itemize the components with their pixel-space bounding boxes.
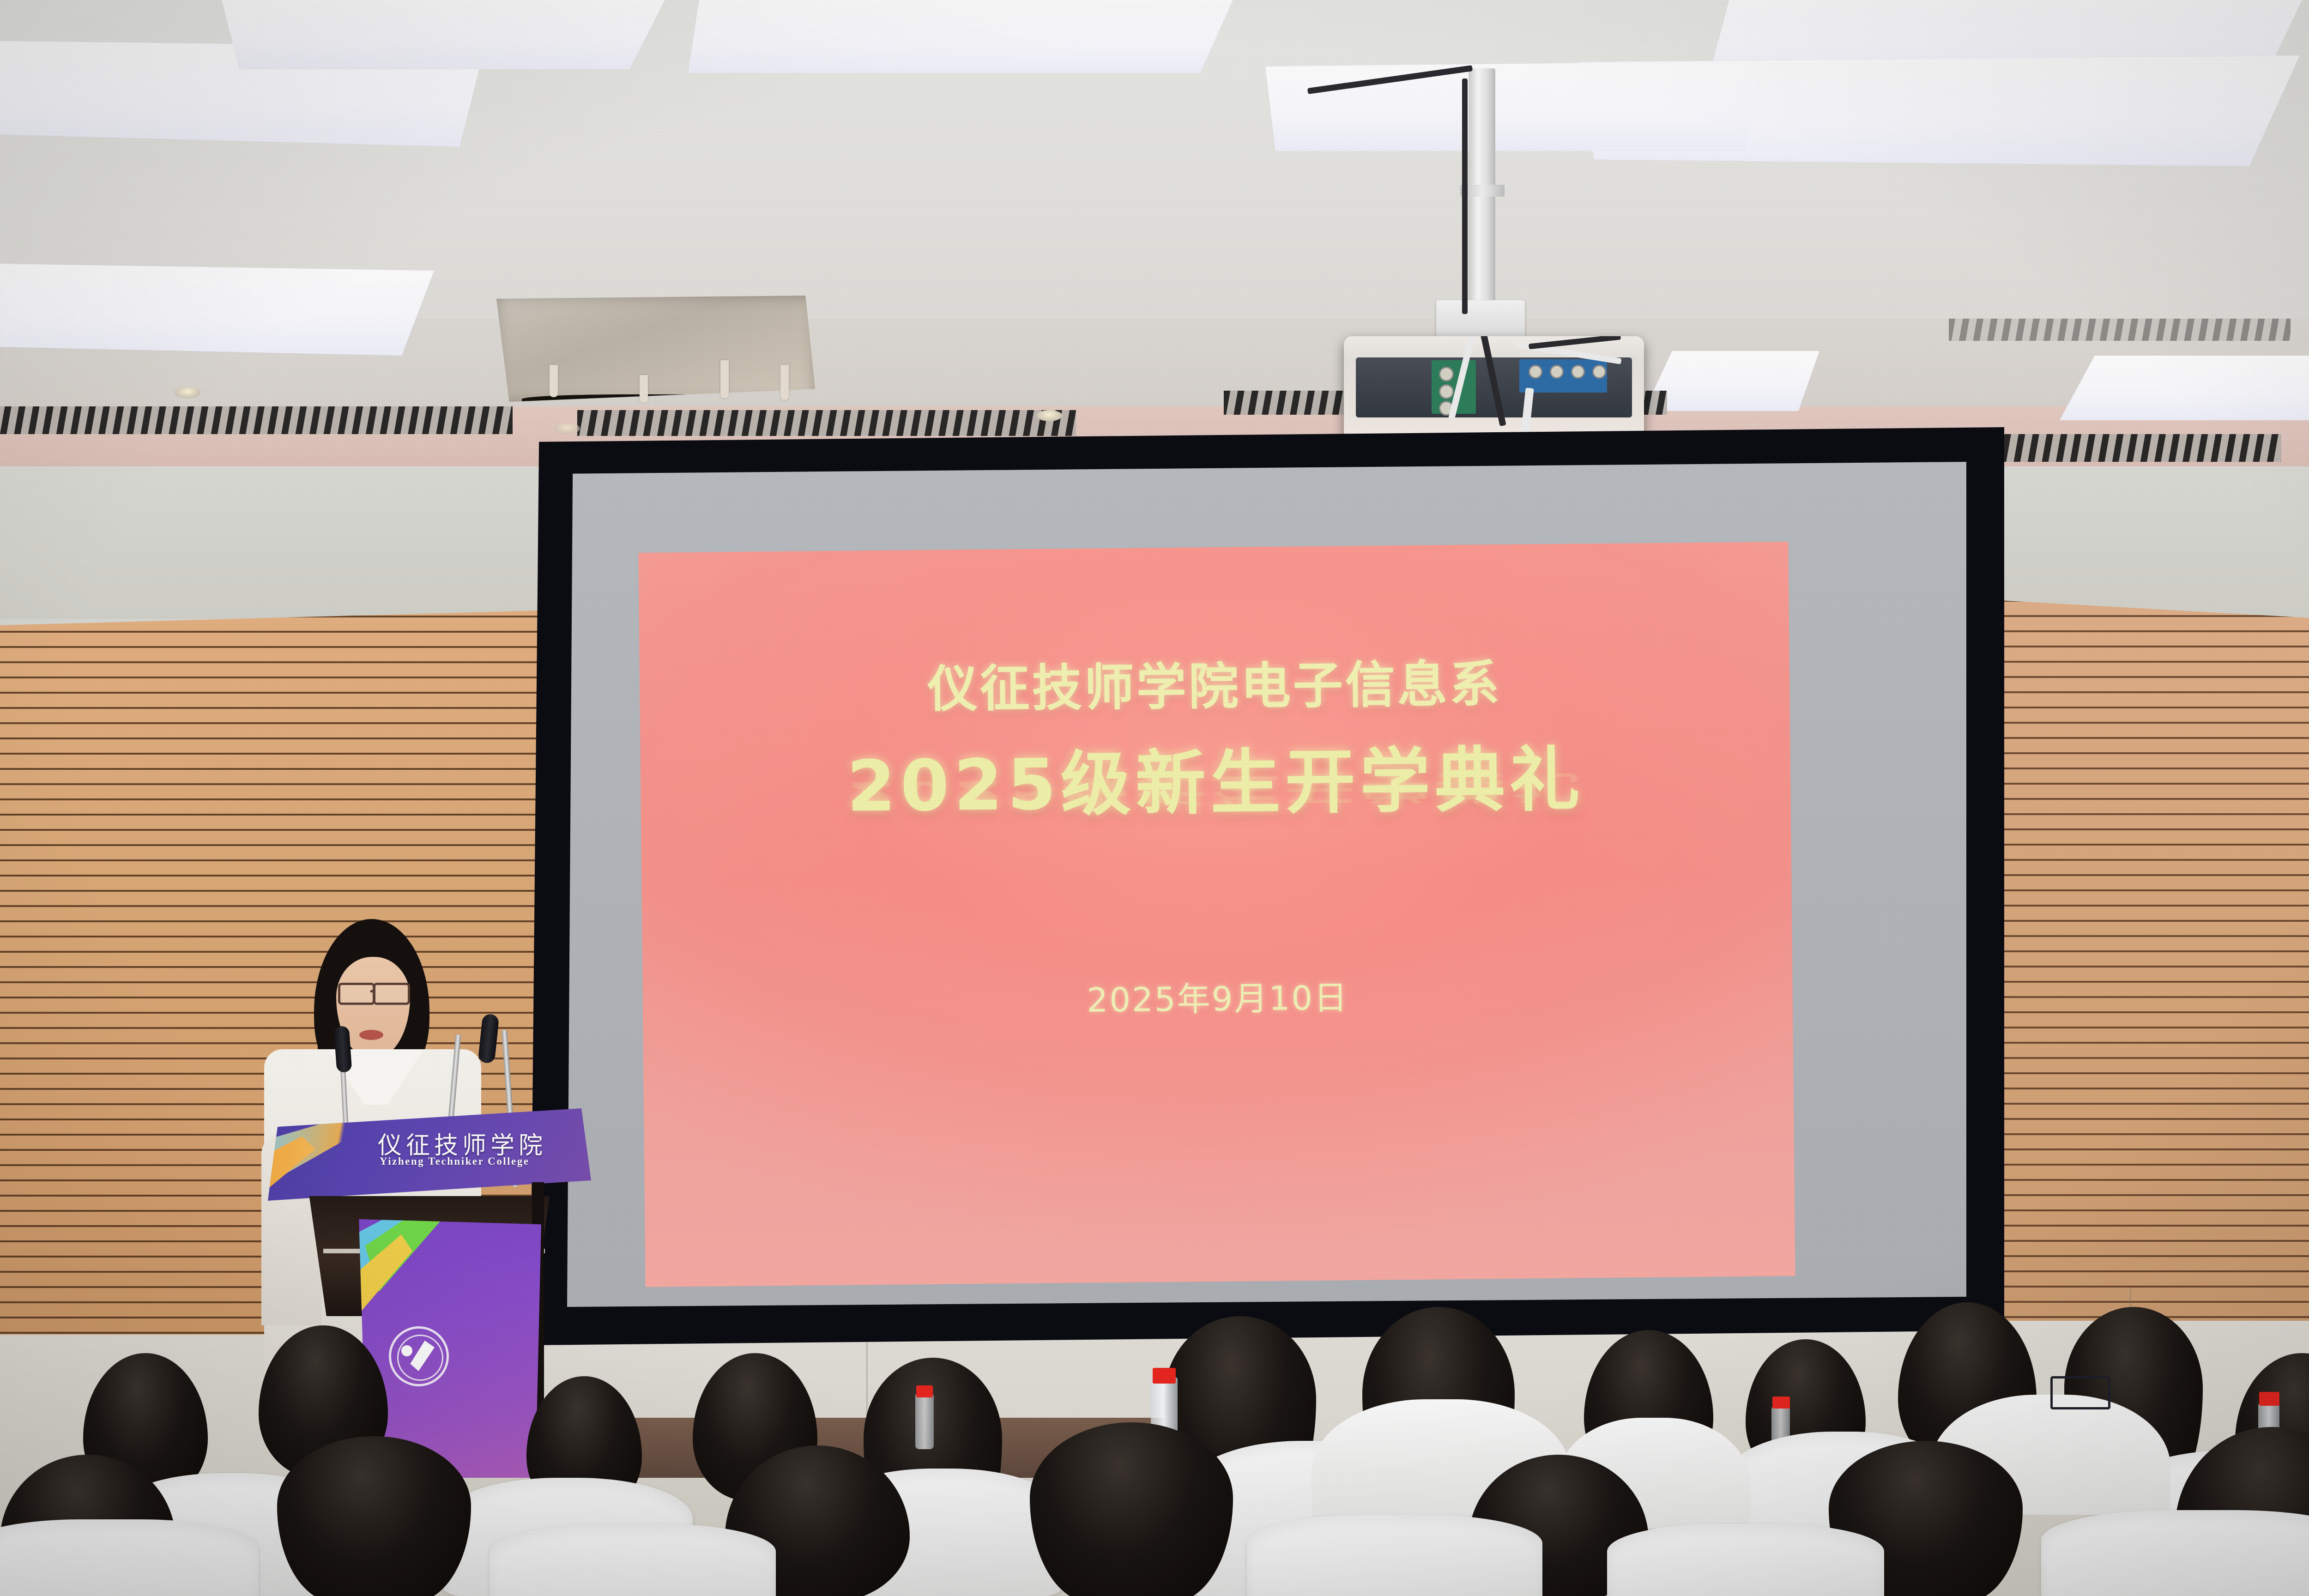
college-seal-icon (389, 1326, 449, 1386)
recessed-light-panel (0, 263, 434, 356)
recessed-light-panel (1644, 351, 1819, 411)
seal-dot (401, 1345, 412, 1356)
ceiling-projector (1344, 336, 1644, 443)
eyeglasses (338, 983, 375, 1005)
ceiling-air-vent (577, 410, 1076, 436)
eyeglasses (2050, 1376, 2110, 1409)
recessed-light-panel (2060, 356, 2309, 420)
acoustic-wood-slat-wall (2000, 600, 2309, 1348)
ceiling-downlight (175, 387, 200, 398)
ceiling-damage-patch (496, 296, 815, 402)
seal-flame (409, 1341, 435, 1371)
seated-attendee (1030, 1422, 1233, 1596)
eyeglasses (373, 983, 410, 1005)
ceiling-damage-fragment (780, 365, 789, 400)
ceiling-air-vent (1949, 319, 2291, 341)
white-covered-chair (0, 1519, 259, 1596)
white-covered-chair (1607, 1524, 1884, 1596)
eyeglasses-bridge (370, 990, 374, 992)
projector-rca-port (1439, 367, 1454, 381)
water-bottle (915, 1394, 934, 1449)
projector-vga-port (1571, 365, 1585, 379)
slide-title-reflection: 2025级新生开学典礼 (847, 766, 1585, 819)
microphone-head (334, 1026, 352, 1073)
podium-name-en: Yizheng Techniker College (380, 1155, 529, 1167)
ceiling-downlight (554, 423, 580, 434)
projector-rca-port (1439, 384, 1454, 399)
water-bottle-cap (1153, 1368, 1176, 1384)
slide-heading: 仪征技师学院电子信息系 (927, 644, 1502, 721)
ceiling-downlight (1036, 410, 1062, 421)
ceiling-damage-fragment (720, 360, 729, 398)
projector-vga-port (1529, 365, 1542, 379)
seated-attendee (277, 1436, 471, 1596)
ceiling-air-vent (0, 406, 513, 434)
projector-vga-port (1592, 365, 1606, 379)
auditorium-photo: 仪征技师学院电子信息系 2025级新生开学典礼 2025级新生开学典礼 2025… (0, 0, 2309, 1596)
white-covered-chair (2041, 1510, 2309, 1596)
water-bottle-cap (2259, 1392, 2279, 1406)
recessed-light-panel (1265, 61, 1764, 151)
projector-cable (1529, 336, 1621, 349)
recessed-light-panel (688, 0, 1233, 73)
ceiling-damage-fragment (550, 365, 558, 397)
projector-cable (1462, 79, 1468, 314)
speaker-mouth (359, 1030, 383, 1040)
projector-vga-port (1550, 365, 1564, 379)
projected-slide: 仪征技师学院电子信息系 2025级新生开学典礼 2025级新生开学典礼 2025… (638, 542, 1795, 1287)
projector-mount-pole (1469, 68, 1495, 327)
water-bottle-cap (1772, 1396, 1790, 1409)
ceiling-damage-fragment (640, 375, 648, 403)
recessed-light-panel (222, 0, 665, 69)
white-covered-chair (1247, 1515, 1542, 1596)
white-covered-chair (490, 1524, 776, 1596)
slide-date: 2025年9月10日 (1087, 970, 1349, 1021)
water-bottle-cap (916, 1385, 933, 1397)
